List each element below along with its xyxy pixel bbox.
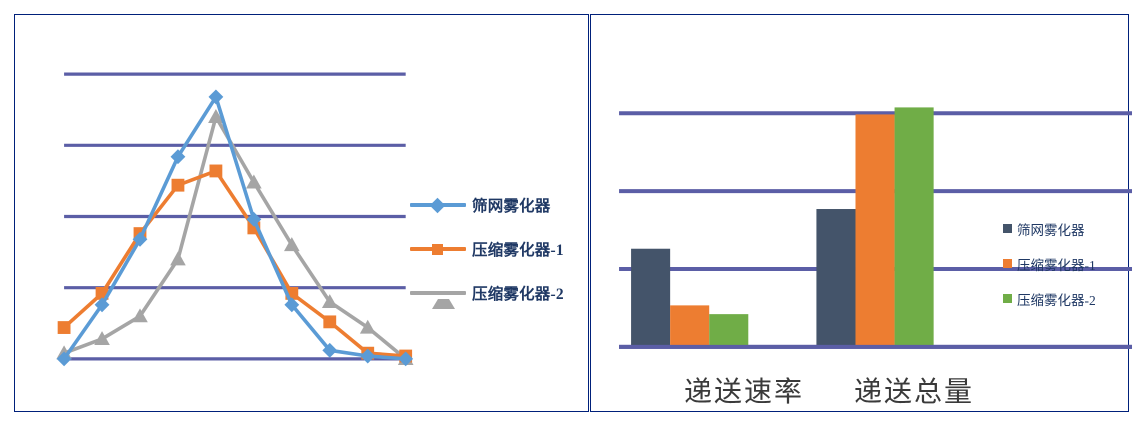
legend-key-line-series-1 xyxy=(410,198,466,212)
legend-label-line-series-3: 压缩雾化器-2 xyxy=(472,282,564,304)
data-point-marker xyxy=(170,251,186,265)
legend-item-compressor-nebulizer-1[interactable]: 压缩雾化器-1 xyxy=(410,227,585,271)
legend-item-compressor-nebulizer-2[interactable]: 压缩雾化器-2 xyxy=(410,271,585,315)
legend-item-bar-compressor-nebulizer-2[interactable]: 压缩雾化器-2 xyxy=(1003,281,1129,316)
square-marker-icon xyxy=(432,244,443,255)
data-point-marker xyxy=(94,331,110,345)
diamond-marker-icon xyxy=(430,198,446,214)
bar-group-2 xyxy=(816,107,933,346)
legend-label-bar-series-1: 筛网雾化器 xyxy=(1017,219,1085,239)
legend-key-line-series-3 xyxy=(410,286,466,300)
triangle-marker-icon xyxy=(432,288,455,309)
bar-chart-legend: 筛网雾化器 压缩雾化器-1 压缩雾化器-2 xyxy=(1003,211,1129,316)
line-series-1 xyxy=(57,90,413,367)
data-point-marker xyxy=(172,179,185,192)
legend-key-line-series-2 xyxy=(410,242,466,256)
data-point-marker xyxy=(323,315,336,328)
category-label-total-delivery: 递送总量 xyxy=(854,370,974,410)
line-chart-legend: 筛网雾化器 压缩雾化器-1 压缩雾化器-2 xyxy=(410,183,585,315)
line-chart-panel: 筛网雾化器 压缩雾化器-1 压缩雾化器-2 xyxy=(14,14,589,412)
data-point-marker xyxy=(246,175,262,189)
legend-item-screen-mesh-nebulizer[interactable]: 筛网雾化器 xyxy=(410,183,585,227)
bar-series-3-cat-1 xyxy=(709,314,748,347)
bar-series-2-cat-1 xyxy=(670,305,709,346)
legend-swatch-bar-series-1 xyxy=(1003,224,1012,233)
bar-series-3-cat-2 xyxy=(895,107,934,346)
bar-series-1-cat-1 xyxy=(631,249,670,347)
bar-series-1-cat-2 xyxy=(816,209,855,347)
category-label-delivery-rate: 递送速率 xyxy=(684,370,804,410)
legend-label-line-series-1: 筛网雾化器 xyxy=(472,194,551,216)
legend-swatch-bar-series-3 xyxy=(1003,294,1012,303)
legend-label-line-series-2: 压缩雾化器-1 xyxy=(472,238,564,260)
bar-series-2-cat-2 xyxy=(855,114,894,346)
legend-swatch-bar-series-2 xyxy=(1003,259,1012,268)
legend-item-bar-compressor-nebulizer-1[interactable]: 压缩雾化器-1 xyxy=(1003,246,1129,281)
legend-label-bar-series-3: 压缩雾化器-2 xyxy=(1017,289,1096,309)
chart-figure: 筛网雾化器 压缩雾化器-1 压缩雾化器-2 递送速 xyxy=(0,0,1143,426)
legend-item-bar-screen-mesh-nebulizer[interactable]: 筛网雾化器 xyxy=(1003,211,1129,246)
bar-group-1 xyxy=(631,249,748,347)
data-point-marker xyxy=(209,165,222,178)
series-line xyxy=(64,171,406,356)
legend-label-bar-series-2: 压缩雾化器-1 xyxy=(1017,254,1096,274)
line-series-3 xyxy=(56,109,413,365)
bar-chart-category-axis: 递送速率 递送总量 xyxy=(591,370,1128,415)
data-point-marker xyxy=(58,321,71,334)
bar-chart-panel: 递送速率 递送总量 筛网雾化器 压缩雾化器-1 压缩雾化器-2 xyxy=(590,14,1129,412)
